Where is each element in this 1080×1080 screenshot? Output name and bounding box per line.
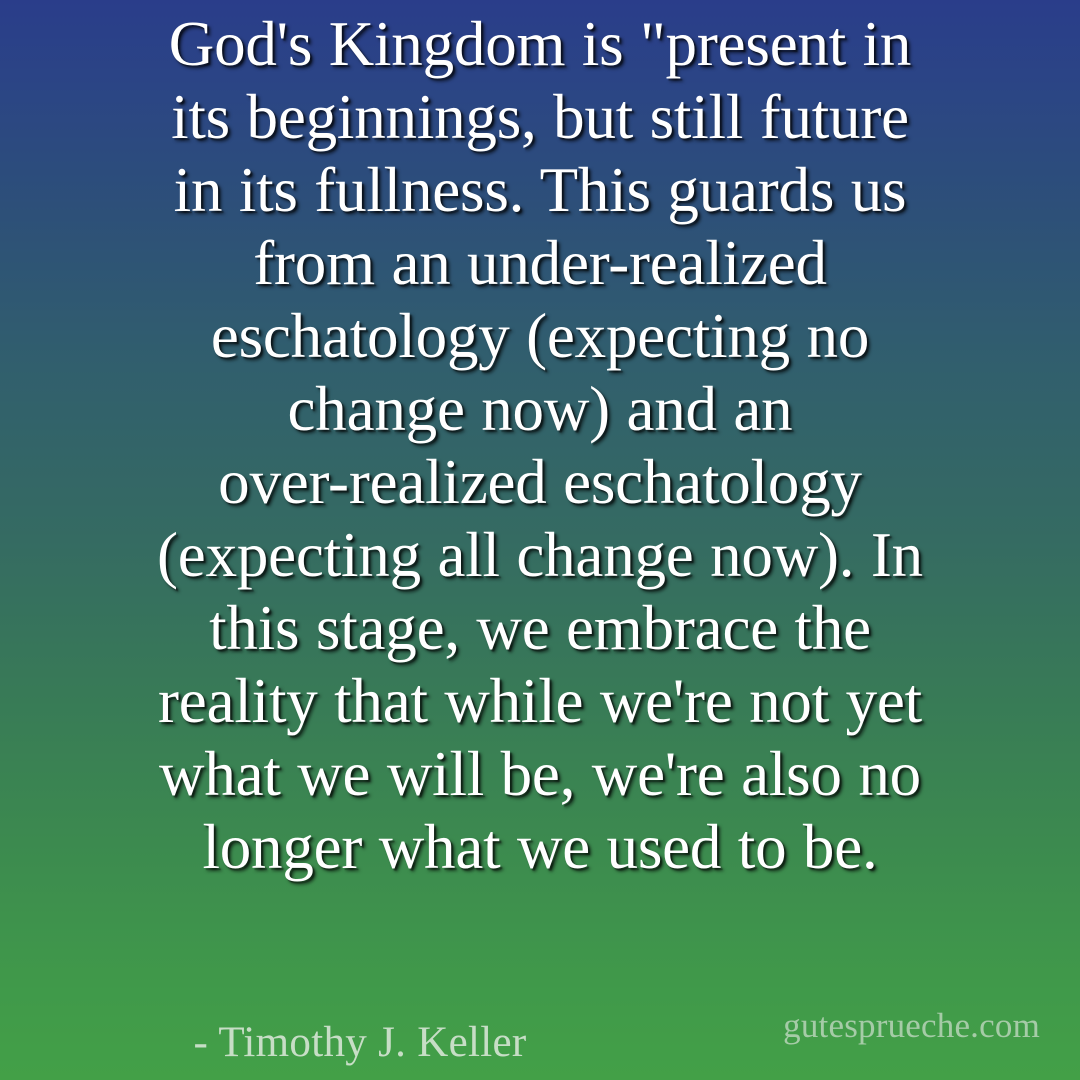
quote-card: God's Kingdom is "present in its beginni… (0, 0, 1080, 1080)
site-watermark: gutesprueche.com (783, 1006, 1040, 1046)
quote-text: God's Kingdom is "present in its beginni… (0, 8, 1080, 884)
author-attribution: - Timothy J. Keller (0, 1018, 720, 1068)
